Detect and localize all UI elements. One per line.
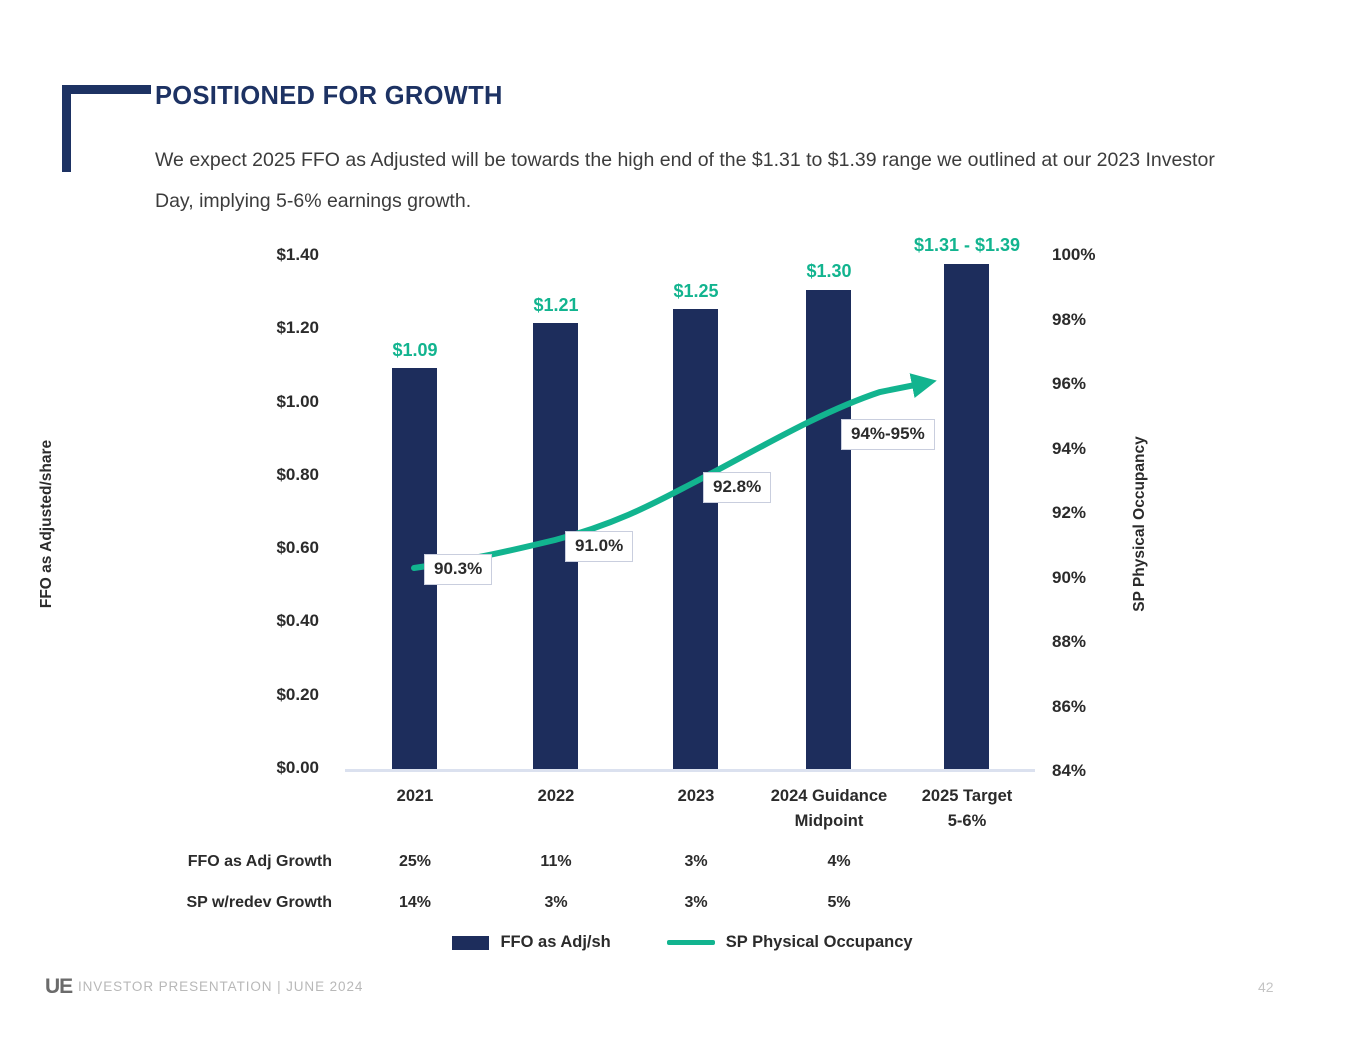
x-category-2025-line1: 2025 Target bbox=[899, 784, 1035, 809]
company-logo: UE bbox=[45, 975, 72, 999]
bar-label-2022: $1.21 bbox=[496, 295, 616, 316]
y-tick-left-1: $0.20 bbox=[276, 685, 319, 705]
slide: POSITIONED FOR GROWTH We expect 2025 FFO… bbox=[0, 0, 1365, 1055]
callout-occupancy-2024: 94%-95% bbox=[841, 419, 935, 450]
bar-2025-target[interactable] bbox=[944, 264, 989, 769]
legend-label-ffo: FFO as Adj/sh bbox=[500, 933, 610, 952]
y-axis-left-title: FFO as Adjusted/share bbox=[38, 414, 56, 634]
y-tick-left-5: $1.00 bbox=[276, 392, 319, 412]
y-tick-right-4: 92% bbox=[1052, 503, 1086, 523]
bar-swatch-icon bbox=[452, 936, 489, 950]
callout-occupancy-2021: 90.3% bbox=[424, 554, 492, 585]
bar-2023[interactable] bbox=[673, 309, 718, 769]
x-category-2023-line1: 2023 bbox=[636, 784, 756, 809]
datarow-sp-redev-2024: 5% bbox=[779, 894, 899, 912]
line-swatch-icon bbox=[667, 940, 715, 945]
bar-2024-guidance-midpoint[interactable] bbox=[806, 290, 851, 769]
y-tick-right-7: 98% bbox=[1052, 310, 1086, 330]
y-tick-right-2: 88% bbox=[1052, 632, 1086, 652]
datarow-sp-redev-2022: 3% bbox=[496, 894, 616, 912]
bar-label-2021: $1.09 bbox=[355, 340, 475, 361]
x-category-2023: 2023 bbox=[636, 784, 756, 809]
y-tick-right-0: 84% bbox=[1052, 761, 1086, 781]
chart-legend: FFO as Adj/sh SP Physical Occupancy bbox=[0, 933, 1365, 952]
datarow-ffo-growth-2021: 25% bbox=[355, 853, 475, 871]
corner-bracket-decoration bbox=[62, 85, 151, 172]
x-category-2025-line2: 5-6% bbox=[899, 809, 1035, 834]
y-tick-left-2: $0.40 bbox=[276, 611, 319, 631]
bar-label-2023: $1.25 bbox=[636, 281, 756, 302]
x-category-2024-line1: 2024 Guidance bbox=[754, 784, 904, 809]
x-category-2024-guidance-midpoint: 2024 Guidance Midpoint bbox=[754, 784, 904, 834]
legend-label-occupancy: SP Physical Occupancy bbox=[726, 933, 913, 952]
y-tick-left-6: $1.20 bbox=[276, 318, 319, 338]
legend-item-ffo[interactable]: FFO as Adj/sh bbox=[452, 933, 610, 952]
x-category-2022-line1: 2022 bbox=[496, 784, 616, 809]
datarow-ffo-growth-2024: 4% bbox=[779, 853, 899, 871]
datarow-label-sp-redev-growth: SP w/redev Growth bbox=[100, 894, 332, 912]
datarow-ffo-growth-2022: 11% bbox=[496, 853, 616, 871]
y-tick-right-5: 94% bbox=[1052, 439, 1086, 459]
datarow-sp-redev-2021: 14% bbox=[355, 894, 475, 912]
x-category-2024-line2: Midpoint bbox=[754, 809, 904, 834]
y-tick-left-3: $0.60 bbox=[276, 538, 319, 558]
x-category-2021: 2021 bbox=[355, 784, 475, 809]
y-tick-left-0: $0.00 bbox=[276, 758, 319, 778]
legend-item-occupancy[interactable]: SP Physical Occupancy bbox=[667, 933, 913, 952]
footer-text: INVESTOR PRESENTATION | JUNE 2024 bbox=[78, 979, 363, 994]
callout-occupancy-2023: 92.8% bbox=[703, 472, 771, 503]
y-tick-left-4: $0.80 bbox=[276, 465, 319, 485]
datarow-ffo-growth-2023: 3% bbox=[636, 853, 756, 871]
callout-occupancy-2022: 91.0% bbox=[565, 531, 633, 562]
y-tick-right-1: 86% bbox=[1052, 697, 1086, 717]
bar-label-2024: $1.30 bbox=[769, 261, 889, 282]
datarow-sp-redev-2023: 3% bbox=[636, 894, 756, 912]
bar-label-2025: $1.31 - $1.39 bbox=[872, 235, 1062, 256]
x-category-2022: 2022 bbox=[496, 784, 616, 809]
page-subtitle: We expect 2025 FFO as Adjusted will be t… bbox=[155, 140, 1215, 222]
datarow-label-ffo-growth: FFO as Adj Growth bbox=[100, 853, 332, 871]
x-category-2025-target: 2025 Target 5-6% bbox=[899, 784, 1035, 834]
y-tick-left-7: $1.40 bbox=[276, 245, 319, 265]
page-title: POSITIONED FOR GROWTH bbox=[155, 82, 503, 111]
x-category-2021-line1: 2021 bbox=[355, 784, 475, 809]
y-tick-right-6: 96% bbox=[1052, 374, 1086, 394]
page-number: 42 bbox=[1258, 979, 1274, 995]
y-tick-right-3: 90% bbox=[1052, 568, 1086, 588]
y-axis-right-title: SP Physical Occupancy bbox=[1131, 414, 1149, 634]
x-axis-line bbox=[345, 769, 1035, 772]
